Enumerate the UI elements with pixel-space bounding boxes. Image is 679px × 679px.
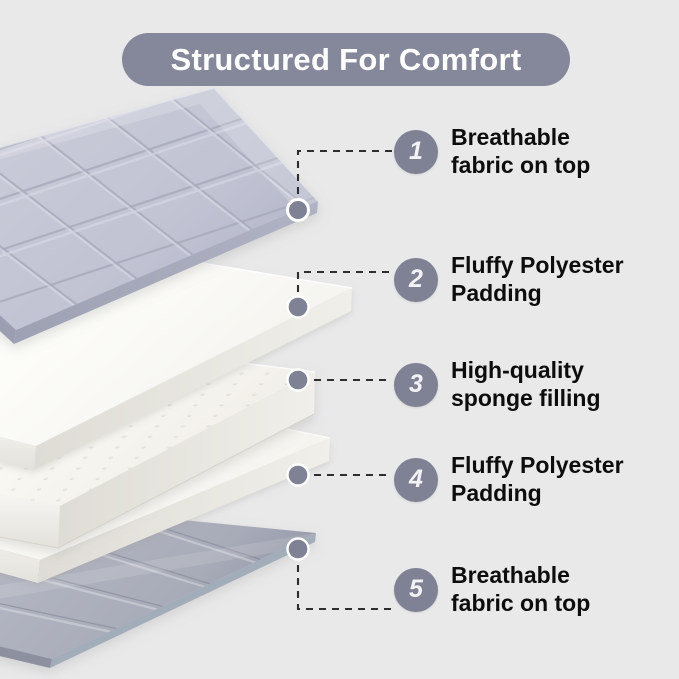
callout-label-3: High-quality sponge filling: [451, 357, 601, 412]
badge-2: 2: [394, 258, 438, 302]
leader-dot-4: [288, 465, 309, 486]
leader-line-5: [298, 552, 392, 609]
leader-line-2: [298, 272, 392, 305]
layer-2-polyester-padding: [0, 262, 352, 470]
layer-1-breathable-fabric: [0, 64, 363, 358]
layer-5-breathable-fabric: [0, 513, 318, 668]
callout-label-1: Breathable fabric on top: [451, 124, 590, 179]
badge-number-5: 5: [409, 577, 423, 602]
callout-2: 2 Fluffy Polyester Padding: [394, 252, 624, 307]
page-title-banner: Structured For Comfort: [122, 33, 570, 86]
leader-dot-3: [288, 370, 309, 391]
callout-1: 1 Breathable fabric on top: [394, 124, 590, 179]
layer-5-quilt-stitching: [0, 516, 318, 637]
badge-4: 4: [394, 458, 438, 502]
leader-dot-2: [288, 297, 309, 318]
badge-number-3: 3: [409, 372, 423, 397]
callout-5: 5 Breathable fabric on top: [394, 562, 590, 617]
leader-dots: [288, 200, 309, 560]
page-title: Structured For Comfort: [170, 42, 521, 78]
badge-1: 1: [394, 130, 438, 174]
leader-dot-1: [288, 200, 309, 221]
leader-line-1: [298, 151, 392, 207]
callout-label-5: Breathable fabric on top: [451, 562, 590, 617]
callout-label-2: Fluffy Polyester Padding: [451, 252, 624, 307]
callout-4: 4 Fluffy Polyester Padding: [394, 452, 624, 507]
badge-5: 5: [394, 568, 438, 612]
layer-1-quilt-stitching: [0, 64, 363, 358]
badge-number-1: 1: [409, 139, 423, 164]
leader-dot-5: [288, 539, 309, 560]
callout-3: 3 High-quality sponge filling: [394, 357, 601, 412]
badge-number-2: 2: [409, 267, 423, 292]
layer-4-polyester-padding: [0, 398, 330, 583]
layer-3-sponge-filling: [0, 340, 340, 548]
badge-number-4: 4: [409, 467, 423, 492]
callout-label-4: Fluffy Polyester Padding: [451, 452, 624, 507]
layer-3-dimple-texture: [0, 340, 340, 530]
badge-3: 3: [394, 363, 438, 407]
leader-lines: [298, 151, 392, 609]
infographic-canvas: Structured For Comfort 1 Breathable fabr…: [0, 0, 679, 679]
